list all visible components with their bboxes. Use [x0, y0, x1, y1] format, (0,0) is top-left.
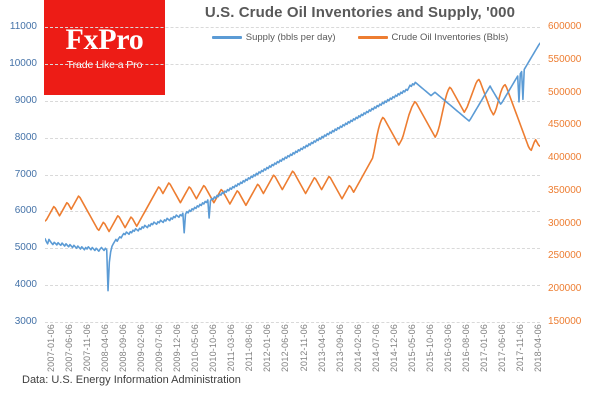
y-axis-right-tick: 600000 — [548, 22, 581, 32]
crude-oil-chart: U.S. Crude Oil Inventories and Supply, '… — [0, 0, 600, 400]
x-axis-tick: 2007-06-06 — [64, 324, 74, 372]
y-axis-left-tick: 4000 — [15, 280, 37, 290]
y-axis-right-tick: 350000 — [548, 186, 581, 196]
x-axis-tick: 2010-10-06 — [208, 324, 218, 372]
x-axis-tick: 2017-06-06 — [497, 324, 507, 372]
x-axis-tick: 2014-02-06 — [353, 324, 363, 372]
y-axis-right-tick: 250000 — [548, 251, 581, 261]
x-axis-tick: 2008-09-06 — [118, 324, 128, 372]
x-axis-tick: 2012-11-06 — [299, 324, 309, 371]
series-layer — [45, 27, 540, 322]
x-axis-tick: 2009-12-06 — [172, 324, 182, 372]
source-note: Data: U.S. Energy Information Administra… — [22, 374, 241, 386]
x-axis-tick: 2011-08-06 — [244, 324, 254, 371]
x-axis-tick: 2008-04-06 — [100, 324, 110, 372]
y-axis-left-tick: 7000 — [15, 170, 37, 180]
x-axis-tick: 2009-02-06 — [136, 324, 146, 372]
x-axis-tick: 2016-03-06 — [443, 324, 453, 372]
y-axis-right-tick: 500000 — [548, 88, 581, 98]
chart-title: U.S. Crude Oil Inventories and Supply, '… — [150, 4, 570, 21]
x-axis-tick: 2007-11-06 — [82, 324, 92, 371]
x-axis-tick: 2018-04-06 — [533, 324, 543, 372]
y-axis-right: 1500002000002500003000003500004000004500… — [544, 27, 600, 322]
y-axis-right-tick: 200000 — [548, 284, 581, 294]
x-axis-tick: 2013-04-06 — [317, 324, 327, 372]
x-axis-tick: 2016-08-06 — [461, 324, 471, 372]
y-axis-right-tick: 450000 — [548, 120, 581, 130]
x-axis-tick: 2012-01-06 — [262, 324, 272, 372]
x-axis-tick: 2015-10-06 — [425, 324, 435, 372]
x-axis-tick: 2013-09-06 — [335, 324, 345, 372]
x-axis-tick: 2014-07-06 — [371, 324, 381, 372]
x-axis-tick: 2014-12-06 — [389, 324, 399, 372]
y-axis-right-tick: 400000 — [548, 153, 581, 163]
y-axis-left-tick: 9000 — [15, 96, 37, 106]
y-axis-left-tick: 6000 — [15, 206, 37, 216]
x-axis-tick: 2017-01-06 — [479, 324, 489, 372]
line-supply — [45, 43, 540, 290]
y-axis-left-tick: 10000 — [9, 59, 37, 69]
x-axis-tick: 2015-05-06 — [407, 324, 417, 372]
x-axis-tick: 2010-05-06 — [190, 324, 200, 372]
y-axis-left: 30004000500060007000800090001000011000 — [0, 27, 41, 322]
gridline — [45, 322, 540, 323]
y-axis-left-tick: 3000 — [15, 317, 37, 327]
y-axis-right-tick: 150000 — [548, 317, 581, 327]
y-axis-left-tick: 5000 — [15, 243, 37, 253]
x-axis-tick: 2007-01-06 — [46, 324, 56, 372]
y-axis-left-tick: 11000 — [10, 22, 37, 32]
y-axis-left-tick: 8000 — [15, 133, 37, 143]
plot-area — [45, 27, 540, 322]
y-axis-right-tick: 550000 — [548, 55, 581, 65]
x-axis-tick: 2011-03-06 — [226, 324, 236, 371]
x-axis-tick: 2009-07-06 — [154, 324, 164, 372]
y-axis-right-tick: 300000 — [548, 219, 581, 229]
x-axis-tick: 2017-11-06 — [515, 324, 525, 371]
x-axis-tick: 2012-06-06 — [280, 324, 290, 372]
